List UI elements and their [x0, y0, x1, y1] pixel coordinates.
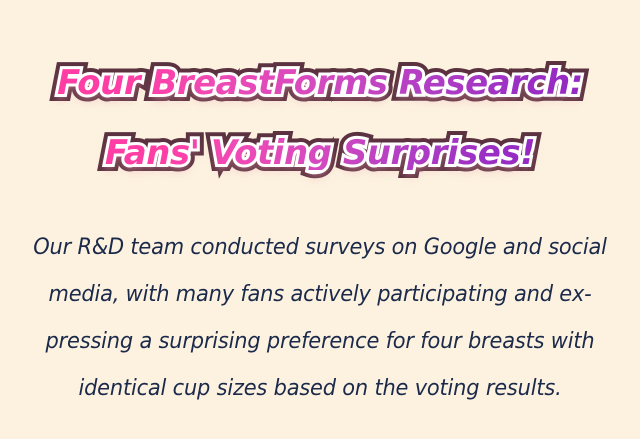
- title-line-2-fill: Fans' Voting Surprises!: [105, 136, 535, 170]
- body-line: media, with many fans actively participa…: [22, 271, 617, 318]
- body-line: identical cup sizes based on the voting …: [22, 365, 617, 412]
- title-line-2: Fans' Voting Surprises! Fans' Voting Sur…: [0, 125, 640, 195]
- body-line: Our R&D team conducted surveys on Google…: [22, 224, 617, 271]
- body-line: pressing a surprising preference for fou…: [22, 318, 617, 365]
- title-line-1: Four BreastForms Research: Four BreastFo…: [0, 55, 640, 125]
- poster-title: Four BreastForms Research: Four BreastFo…: [0, 55, 640, 195]
- promo-poster: Four BreastForms Research: Four BreastFo…: [0, 0, 640, 439]
- poster-body-paragraph: Our R&D team conducted surveys on Google…: [0, 224, 640, 412]
- title-line-1-layers: Four BreastForms Research: Four BreastFo…: [57, 66, 583, 100]
- title-line-1-fill: Four BreastForms Research:: [57, 66, 583, 100]
- title-line-2-layers: Fans' Voting Surprises! Fans' Voting Sur…: [105, 136, 535, 170]
